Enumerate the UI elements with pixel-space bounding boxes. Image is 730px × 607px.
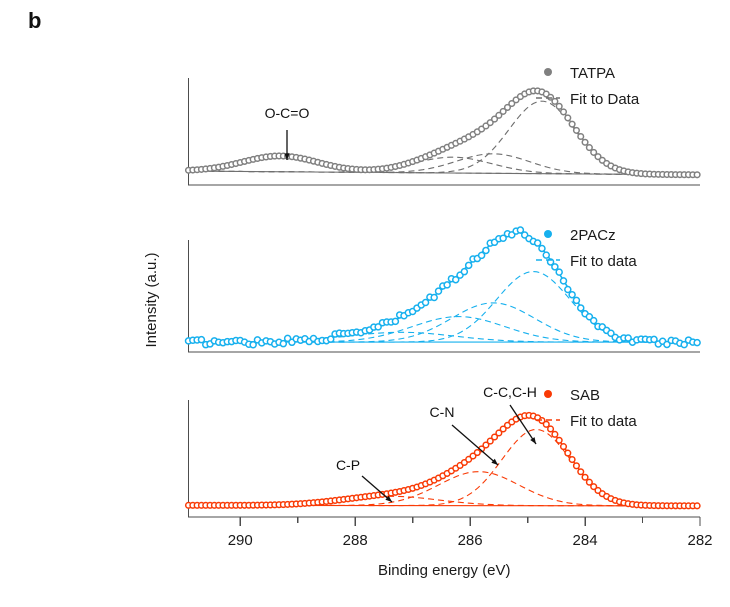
annotation-arrow-cn	[452, 425, 498, 465]
fit-component-ccch	[189, 272, 699, 343]
spectrum-panel-tatpa: TATPAFit to Data	[186, 65, 700, 185]
legend-marker-icon	[544, 390, 552, 398]
legend-fit-label: Fit to Data	[570, 91, 640, 108]
x-axis-tick-label: 282	[687, 532, 712, 549]
x-axis-tick-label: 290	[228, 532, 253, 549]
annotation-label-oco: O-C=O	[265, 105, 310, 121]
x-axis: 290288286284282	[228, 517, 713, 549]
x-axis-tick-label: 284	[573, 532, 598, 549]
fit-component-ccch	[189, 429, 699, 505]
y-axis-title: Intensity (a.u.)	[143, 252, 160, 347]
annotation-label-ccch: C-C,C-H	[483, 384, 537, 400]
legend-fit-label: Fit to data	[570, 413, 637, 430]
x-axis-tick-label: 288	[343, 532, 368, 549]
legend-marker-icon	[544, 230, 552, 238]
x-axis-tick-label: 286	[458, 532, 483, 549]
legend-fit-label: Fit to data	[570, 253, 637, 270]
annotation-label-cn: C-N	[430, 404, 455, 420]
x-axis-title: Binding energy (eV)	[378, 562, 511, 579]
data-points-2pacz	[186, 227, 701, 348]
legend-data-label: SAB	[570, 387, 600, 404]
xps-figure: b TATPAFit to Data2PACzFit to dataSABFit…	[0, 0, 730, 607]
spectrum-panel-2pacz: 2PACzFit to data	[186, 227, 701, 352]
legend-marker-icon	[544, 68, 552, 76]
legend-data-label: 2PACz	[570, 227, 616, 244]
legend-data-label: TATPA	[570, 65, 615, 82]
xps-spectra-plot: TATPAFit to Data2PACzFit to dataSABFit t…	[0, 0, 730, 607]
annotation-label-cp: C-P	[336, 457, 360, 473]
legend-sab: SABFit to data	[536, 387, 637, 430]
